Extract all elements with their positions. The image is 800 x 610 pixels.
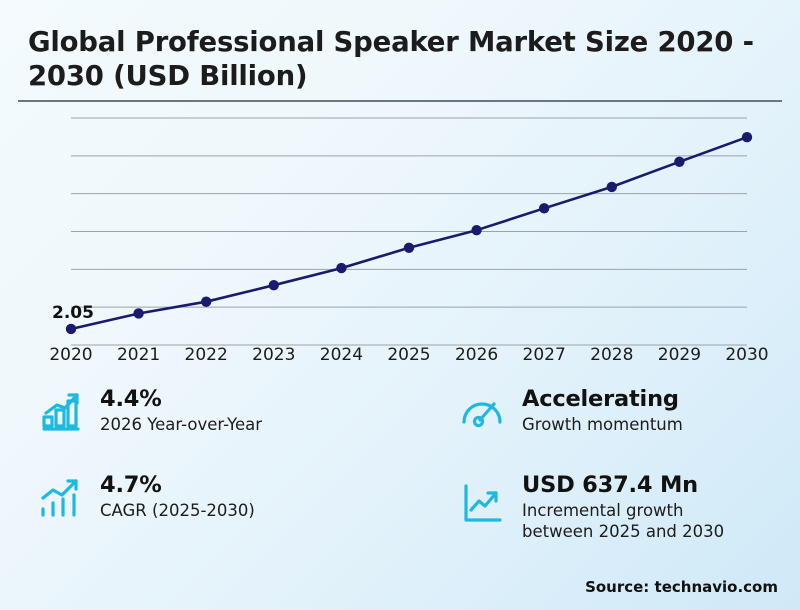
title-divider [18, 100, 782, 102]
chart-data-line [71, 137, 747, 329]
stat-text: Accelerating Growth momentum [522, 386, 683, 436]
line-chart [0, 106, 800, 356]
page-title: Global Professional Speaker Market Size … [28, 26, 780, 93]
stat-value: 4.4% [100, 387, 262, 412]
x-axis-tick-2027: 2027 [509, 345, 579, 365]
trend-up-bars-icon [34, 472, 86, 524]
stat-label: Growth momentum [522, 415, 683, 435]
x-axis-tick-2024: 2024 [306, 345, 376, 365]
first-point-value-label: 2.05 [52, 303, 94, 323]
x-axis-tick-2023: 2023 [239, 345, 309, 365]
stats-grid: 4.4% 2026 Year-over-Year 4. [0, 386, 800, 556]
stat-label: 2026 Year-over-Year [100, 415, 262, 435]
stat-value: USD 637.4 Mn [522, 473, 724, 498]
chart-arrow-up-icon [456, 478, 508, 530]
stat-value: 4.7% [100, 473, 255, 498]
x-axis-tick-2025: 2025 [374, 345, 444, 365]
stat-label: Incremental growth between 2025 and 2030 [522, 501, 724, 542]
x-axis-tick-2021: 2021 [104, 345, 174, 365]
speedometer-icon [456, 386, 508, 438]
stat-card-yoy: 4.4% 2026 Year-over-Year [34, 386, 262, 438]
x-axis-tick-2028: 2028 [577, 345, 647, 365]
stat-card-cagr: 4.7% CAGR (2025-2030) [34, 472, 255, 524]
bar-chart-growth-icon [34, 386, 86, 438]
x-axis-tick-2022: 2022 [171, 345, 241, 365]
x-axis-tick-2026: 2026 [442, 345, 512, 365]
chart-gridlines [71, 118, 747, 345]
stat-text: 4.7% CAGR (2025-2030) [100, 472, 255, 522]
infographic-page: Global Professional Speaker Market Size … [0, 0, 800, 610]
chart-data-points [66, 132, 752, 334]
x-axis-tick-2020: 2020 [36, 345, 106, 365]
stat-label: CAGR (2025-2030) [100, 501, 255, 521]
stat-text: 4.4% 2026 Year-over-Year [100, 386, 262, 436]
source-attribution: Source: technavio.com [585, 578, 778, 596]
chart-svg [0, 106, 800, 356]
stat-card-incremental-growth: USD 637.4 Mn Incremental growth between … [456, 472, 724, 542]
stat-card-momentum: Accelerating Growth momentum [456, 386, 683, 438]
chart-x-axis: 2020202120222023202420252026202720282029… [0, 345, 800, 373]
stat-text: USD 637.4 Mn Incremental growth between … [522, 472, 724, 542]
stat-value: Accelerating [522, 387, 683, 412]
x-axis-tick-2029: 2029 [644, 345, 714, 365]
x-axis-tick-2030: 2030 [712, 345, 782, 365]
